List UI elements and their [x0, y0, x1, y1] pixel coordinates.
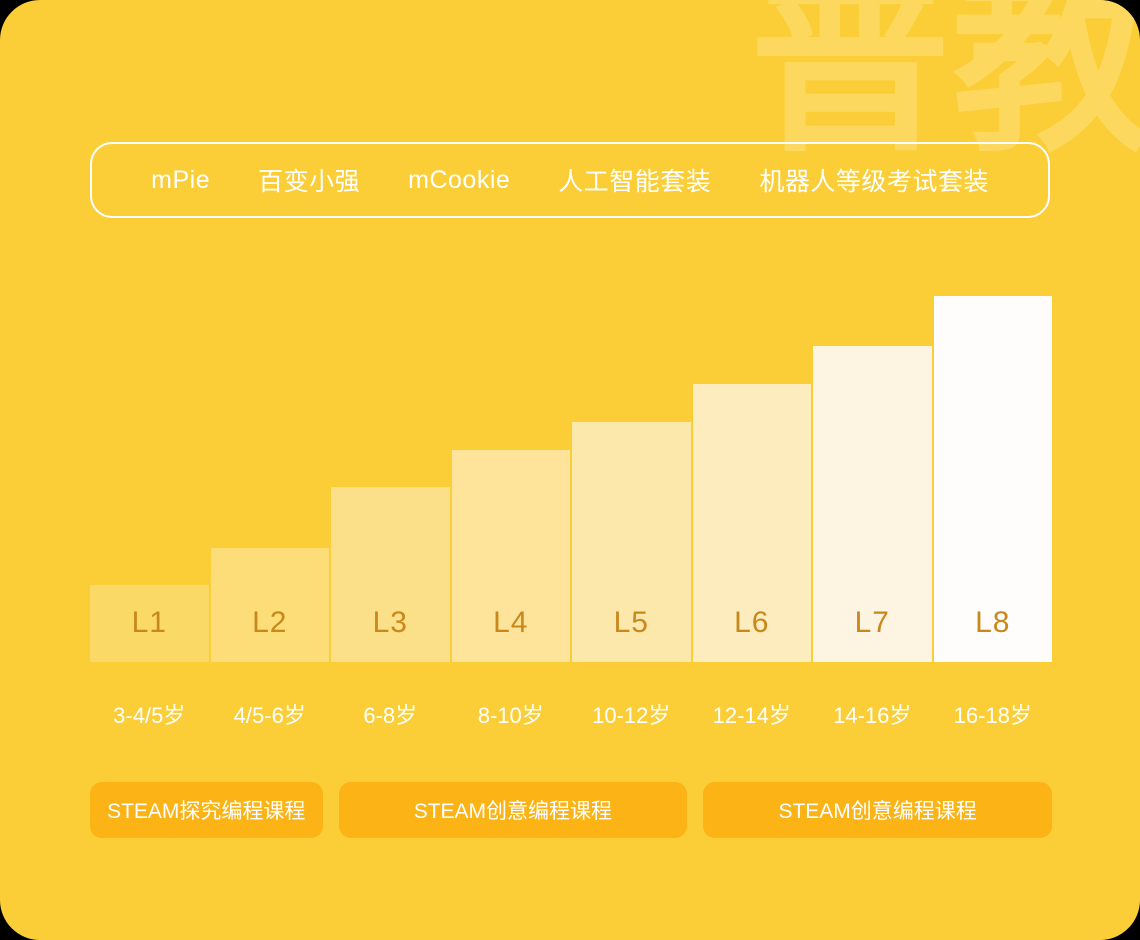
- bar-label-l8: L8: [975, 606, 1010, 662]
- age-label-0: 3-4/5岁: [90, 698, 209, 730]
- bar-l5[interactable]: L5: [572, 422, 691, 662]
- bar-l1[interactable]: L1: [90, 585, 209, 662]
- level-bar-chart: L1L2L3L4L5L6L7L8: [90, 290, 1052, 662]
- bar-label-l4: L4: [493, 606, 528, 662]
- course-button-row: STEAM探究编程课程STEAM创意编程课程STEAM创意编程课程: [90, 782, 1052, 838]
- bar-label-l3: L3: [373, 606, 408, 662]
- age-range-row: 3-4/5岁4/5-6岁6-8岁8-10岁10-12岁12-14岁14-16岁1…: [90, 698, 1052, 730]
- course-button-2[interactable]: STEAM创意编程课程: [703, 782, 1052, 838]
- chart-baseline: [90, 662, 1052, 666]
- course-level-card: 普教 mPie百变小强mCookie人工智能套装机器人等级考试套装 L1L2L3…: [0, 0, 1140, 940]
- age-label-1: 4/5-6岁: [211, 698, 330, 730]
- age-label-7: 16-18岁: [934, 698, 1053, 730]
- bar-label-l1: L1: [132, 606, 167, 662]
- nav-item-3[interactable]: 人工智能套装: [534, 162, 735, 198]
- bar-l4[interactable]: L4: [452, 450, 571, 662]
- bar-l8[interactable]: L8: [934, 296, 1053, 662]
- age-label-3: 8-10岁: [452, 698, 571, 730]
- product-nav-bar: mPie百变小强mCookie人工智能套装机器人等级考试套装: [90, 142, 1050, 218]
- nav-item-1[interactable]: 百变小强: [234, 162, 384, 198]
- bar-l6[interactable]: L6: [693, 384, 812, 662]
- course-button-0[interactable]: STEAM探究编程课程: [90, 782, 323, 838]
- bar-l7[interactable]: L7: [813, 346, 932, 662]
- age-label-2: 6-8岁: [331, 698, 450, 730]
- age-label-4: 10-12岁: [572, 698, 691, 730]
- bar-label-l7: L7: [855, 606, 890, 662]
- bar-label-l5: L5: [614, 606, 649, 662]
- bar-l3[interactable]: L3: [331, 487, 450, 662]
- bar-l2[interactable]: L2: [211, 548, 330, 662]
- watermark-text: 普教: [750, 0, 1140, 164]
- age-label-6: 14-16岁: [813, 698, 932, 730]
- nav-item-2[interactable]: mCookie: [384, 166, 534, 195]
- bar-label-l2: L2: [252, 606, 287, 662]
- age-label-5: 12-14岁: [693, 698, 812, 730]
- bar-label-l6: L6: [734, 606, 769, 662]
- nav-item-4[interactable]: 机器人等级考试套装: [735, 162, 1013, 198]
- nav-item-0[interactable]: mPie: [127, 166, 234, 195]
- course-button-1[interactable]: STEAM创意编程课程: [339, 782, 688, 838]
